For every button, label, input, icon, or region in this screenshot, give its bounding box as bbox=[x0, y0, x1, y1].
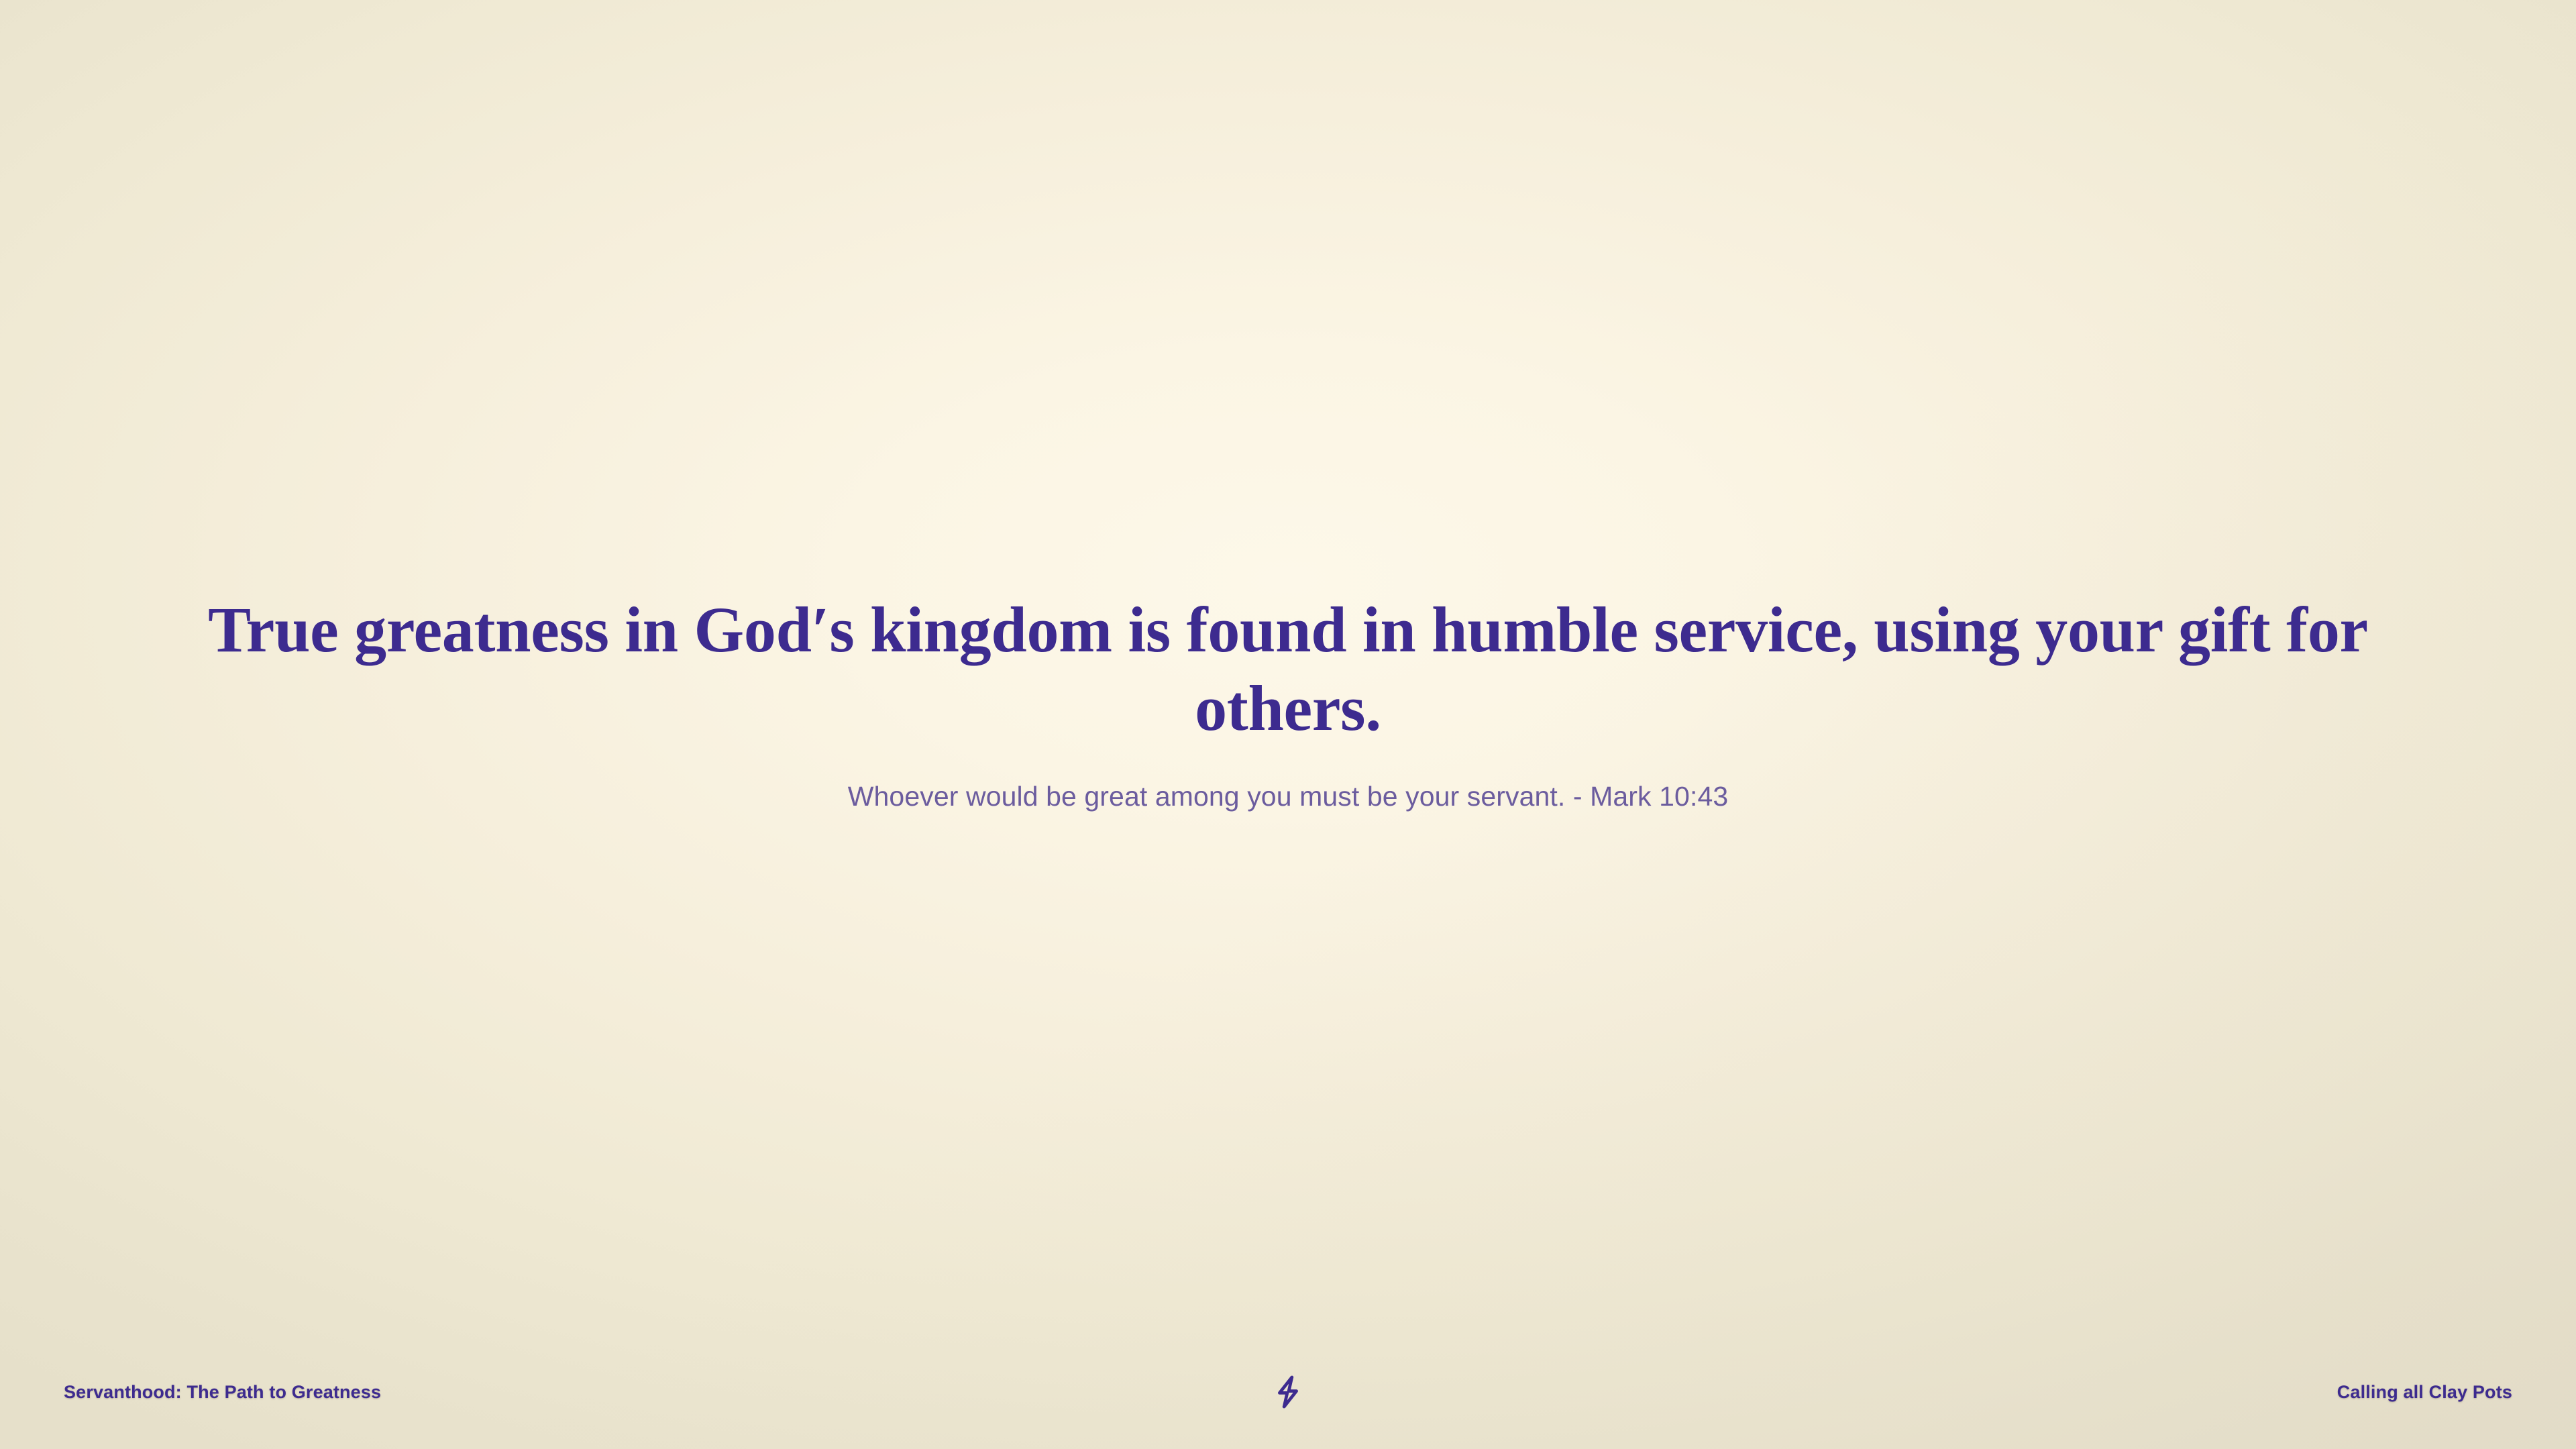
slide-footer: Servanthood: The Path to Greatness Calli… bbox=[0, 1335, 2576, 1449]
footer-left-label: Servanthood: The Path to Greatness bbox=[64, 1382, 381, 1403]
page-title: True greatness in God′s kingdom is found… bbox=[148, 590, 2428, 747]
lightning-bolt-icon bbox=[1248, 1352, 1328, 1432]
footer-right-label: Calling all Clay Pots bbox=[2337, 1382, 2512, 1403]
slide-canvas: True greatness in God′s kingdom is found… bbox=[0, 0, 2576, 1449]
slide-body: True greatness in God′s kingdom is found… bbox=[0, 590, 2576, 816]
slide-subtitle: Whoever would be great among you must be… bbox=[416, 747, 2160, 815]
lightning-bolt-glyph bbox=[1270, 1374, 1306, 1410]
